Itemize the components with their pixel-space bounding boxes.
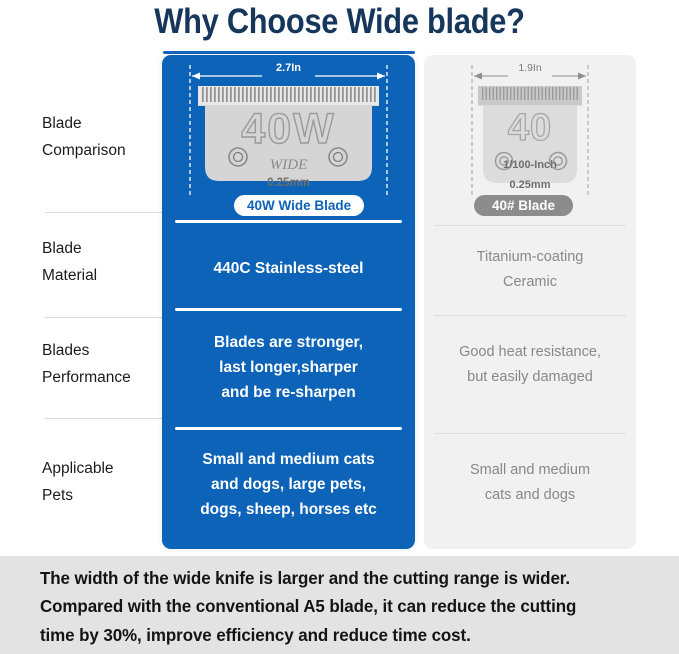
standard-blade-material-value: Titanium-coating Ceramic [428, 245, 632, 295]
wide-blade-pill-label: 40W Wide Blade [234, 195, 364, 216]
wide-blade-number: 40W [176, 105, 401, 154]
title-underline [163, 51, 415, 54]
row-divider [45, 418, 162, 419]
comparison-table: Blade Comparison Blade Material Blades P… [0, 55, 679, 549]
row-label-blade-comparison: Blade Comparison [42, 110, 162, 164]
row-label-blade-material: Blade Material [42, 235, 162, 289]
standard-blade-pets-value: Small and medium cats and dogs [428, 458, 632, 508]
row-label-column: Blade Comparison Blade Material Blades P… [0, 55, 162, 549]
standard-blade-dimension-label: 1.9In [446, 62, 614, 74]
gray-separator [434, 433, 626, 434]
standard-blade-number: 40 [446, 107, 614, 150]
bottom-note-banner: The width of the wide knife is larger an… [0, 556, 679, 654]
gray-separator [434, 315, 626, 316]
blue-separator [175, 308, 402, 311]
standard-blade-thickness: 0.25mm [446, 179, 614, 191]
blue-separator [175, 427, 402, 430]
comparison-infographic: Why Choose Wide blade? Blade Comparison … [0, 0, 679, 654]
wide-blade-pets-value: Small and medium cats and dogs, large pe… [170, 447, 407, 522]
gray-separator [434, 225, 626, 226]
blue-separator [175, 220, 402, 223]
wide-blade-dimension-label: 2.7In [176, 62, 401, 74]
standard-blade-brand-text: 1/100-Inch [446, 159, 614, 171]
wide-blade-column[interactable]: 2.7In 40W WIDE 0.25mm 40W Wide Blade 440… [162, 55, 415, 549]
bottom-note-text: The width of the wide knife is larger an… [40, 564, 652, 649]
standard-blade-column[interactable]: 1.9In 40 1/100-Inch 0.25mm 40# Blade Tit… [424, 55, 636, 549]
wide-blade-material-value: 440C Stainless-steel [170, 256, 407, 281]
standard-blade-performance-value: Good heat resistance, but easily damaged [428, 340, 632, 390]
wide-blade-performance-value: Blades are stronger, last longer,sharper… [170, 330, 407, 405]
row-label-blades-performance: Blades Performance [42, 337, 162, 391]
row-divider [45, 212, 162, 213]
standard-blade-pill-label: 40# Blade [474, 195, 573, 216]
page-title: Why Choose Wide blade? [41, 2, 639, 42]
row-divider [45, 317, 162, 318]
wide-blade-brand-text: WIDE [176, 157, 401, 174]
wide-blade-thickness: 0.25mm [176, 177, 401, 189]
row-label-applicable-pets: Applicable Pets [42, 455, 162, 509]
